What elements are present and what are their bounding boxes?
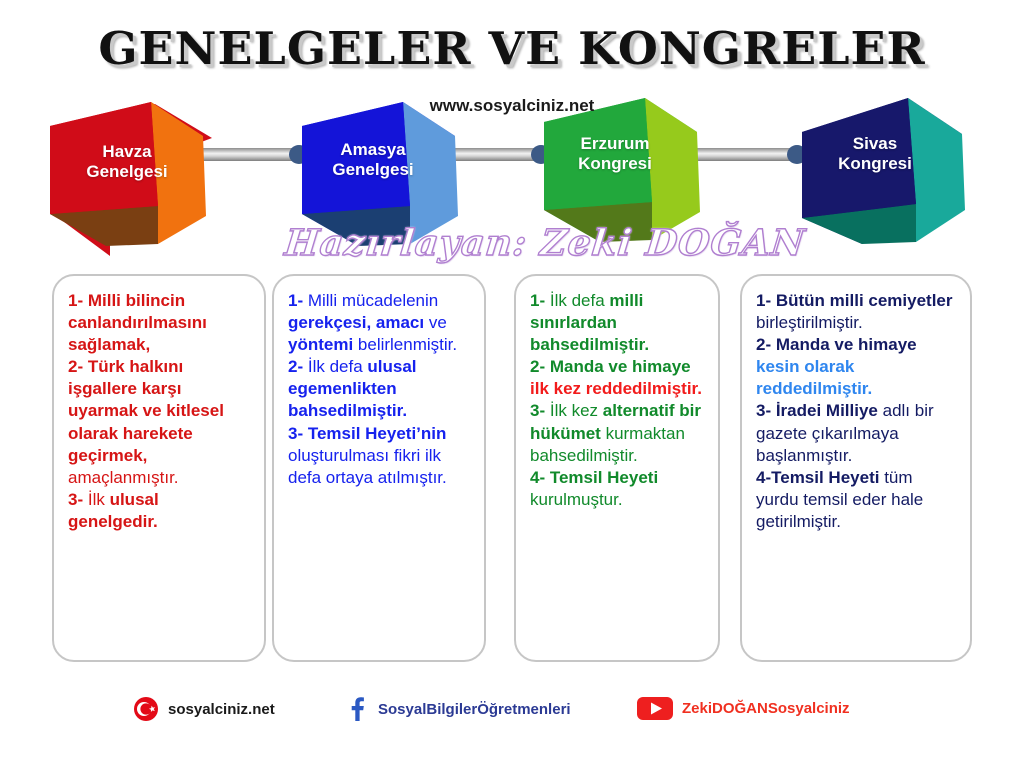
footer: sosyalciniz.net SosyalBilgilerÖğretmenle… [0, 694, 1024, 734]
author-signature: Hazırlayan: Zeki DOĞAN [283, 222, 808, 264]
cube-shape-icon [800, 92, 1000, 257]
card-text-run: amaçlanmıştır. [68, 468, 179, 487]
card-line: 2- Manda ve himaye ilk kez reddedilmişti… [530, 356, 706, 400]
cube-shape-icon [48, 96, 238, 261]
card-text-run: 3- [530, 401, 550, 420]
card-text-run: ve [424, 313, 447, 332]
card-text-run: 1- [288, 291, 308, 310]
timeline-cube-havza[interactable]: Havza Genelgesi [48, 96, 238, 261]
footer-item-youtube[interactable]: ZekiDOĞANSosyalciniz [637, 696, 850, 721]
timeline-rod [150, 148, 880, 161]
card-text-run: yöntemi [288, 335, 353, 354]
card-line: 2- Manda ve himaye kesin olarak reddedil… [756, 334, 958, 400]
card-text-run: kurulmuştur. [530, 490, 623, 509]
facebook-icon [345, 696, 369, 722]
card-text-run: 3- İradei Milliye [756, 401, 878, 420]
card-text-run: 4-Temsil Heyeti [756, 468, 879, 487]
card-text-run: belirlenmiştir. [353, 335, 457, 354]
card-text-run: İlk kez [550, 401, 603, 420]
card-text-run: Milli mücadelenin [308, 291, 438, 310]
card-text-run: İlk defa [550, 291, 610, 310]
infographic-page: GENELGELER VE KONGRELER Havza Genelgesi … [0, 0, 1024, 782]
card-line: 3- Temsil Heyeti’nin oluşturulması fikri… [288, 423, 472, 489]
footer-item-website[interactable]: sosyalciniz.net [133, 696, 275, 722]
timeline-cube-sivas[interactable]: Sivas Kongresi [800, 92, 1000, 257]
card-text-run: 1- Milli bilincin canlandırılmasını sağl… [68, 291, 207, 354]
card-text-run: ilk kez reddedilmiştir. [530, 379, 702, 398]
card-text-run: 4- Temsil Heyeti [530, 468, 658, 487]
card-line: 1- İlk defa milli sınırlardan bahsedilmi… [530, 290, 706, 356]
website-url: www.sosyalciniz.net [0, 96, 1024, 116]
card-text-run: 2- [288, 357, 308, 376]
card-text-run: 2- Manda ve himaye [756, 335, 917, 354]
card-line: 4-Temsil Heyeti tüm yurdu temsil eder ha… [756, 467, 958, 533]
page-title: GENELGELER VE KONGRELER [0, 22, 1024, 75]
card-text-run: 3- [68, 490, 88, 509]
card-line: 3- İlk kez alternatif bir hükümet kurmak… [530, 400, 706, 466]
card-text-run: 2- Türk halkını işgallere karşı uyarmak … [68, 357, 224, 464]
card-text-run: gerekçesi, amacı [288, 313, 424, 332]
card-text-run: 2- Manda ve himaye [530, 357, 691, 376]
card-text-run: 1- [530, 291, 550, 310]
content-card-erzurum: 1- İlk defa milli sınırlardan bahsedilmi… [514, 274, 720, 662]
card-text: 1- Milli bilincin canlandırılmasını sağl… [68, 290, 252, 533]
card-line: 2- Türk halkını işgallere karşı uyarmak … [68, 356, 252, 489]
card-text: 1- Milli mücadelenin gerekçesi, amacı ve… [288, 290, 472, 489]
card-text-run: birleştirilmiştir. [756, 313, 863, 332]
card-line: 1- Milli mücadelenin gerekçesi, amacı ve… [288, 290, 472, 356]
content-card-amasya: 1- Milli mücadelenin gerekçesi, amacı ve… [272, 274, 486, 662]
youtube-icon [637, 696, 673, 721]
card-line: 3- İradei Milliye adlı bir gazete çıkarı… [756, 400, 958, 466]
card-line: 4- Temsil Heyeti kurulmuştur. [530, 467, 706, 511]
card-line: 1- Bütün milli cemiyetler birleştirilmiş… [756, 290, 958, 334]
card-text-run: oluşturulması fikri ilk defa ortaya atıl… [288, 446, 447, 487]
card-text-run: 1- Bütün [756, 291, 830, 310]
footer-label-website: sosyalciniz.net [168, 701, 275, 718]
card-text-run: İlk defa [308, 357, 368, 376]
footer-label-facebook: SosyalBilgilerÖğretmenleri [378, 701, 571, 718]
card-line: 3- İlk ulusal genelgedir. [68, 489, 252, 533]
card-text-run: 3- Temsil Heyeti’nin [288, 424, 446, 443]
turkish-flag-icon [133, 696, 159, 722]
content-card-havza: 1- Milli bilincin canlandırılmasını sağl… [52, 274, 266, 662]
card-text-run: kesin olarak reddedilmiştir. [756, 357, 872, 398]
footer-item-facebook[interactable]: SosyalBilgilerÖğretmenleri [345, 696, 571, 722]
card-text: 1- İlk defa milli sınırlardan bahsedilmi… [530, 290, 706, 511]
footer-label-youtube: ZekiDOĞANSosyalciniz [682, 700, 850, 717]
card-line: 1- Milli bilincin canlandırılmasını sağl… [68, 290, 252, 356]
card-text-run: İlk [88, 490, 110, 509]
content-card-sivas: 1- Bütün milli cemiyetler birleştirilmiş… [740, 274, 972, 662]
card-line: 2- İlk defa ulusal egemenlikten bahsedil… [288, 356, 472, 422]
card-text-run: milli cemiyetler [830, 291, 953, 310]
card-text: 1- Bütün milli cemiyetler birleştirilmiş… [756, 290, 958, 533]
